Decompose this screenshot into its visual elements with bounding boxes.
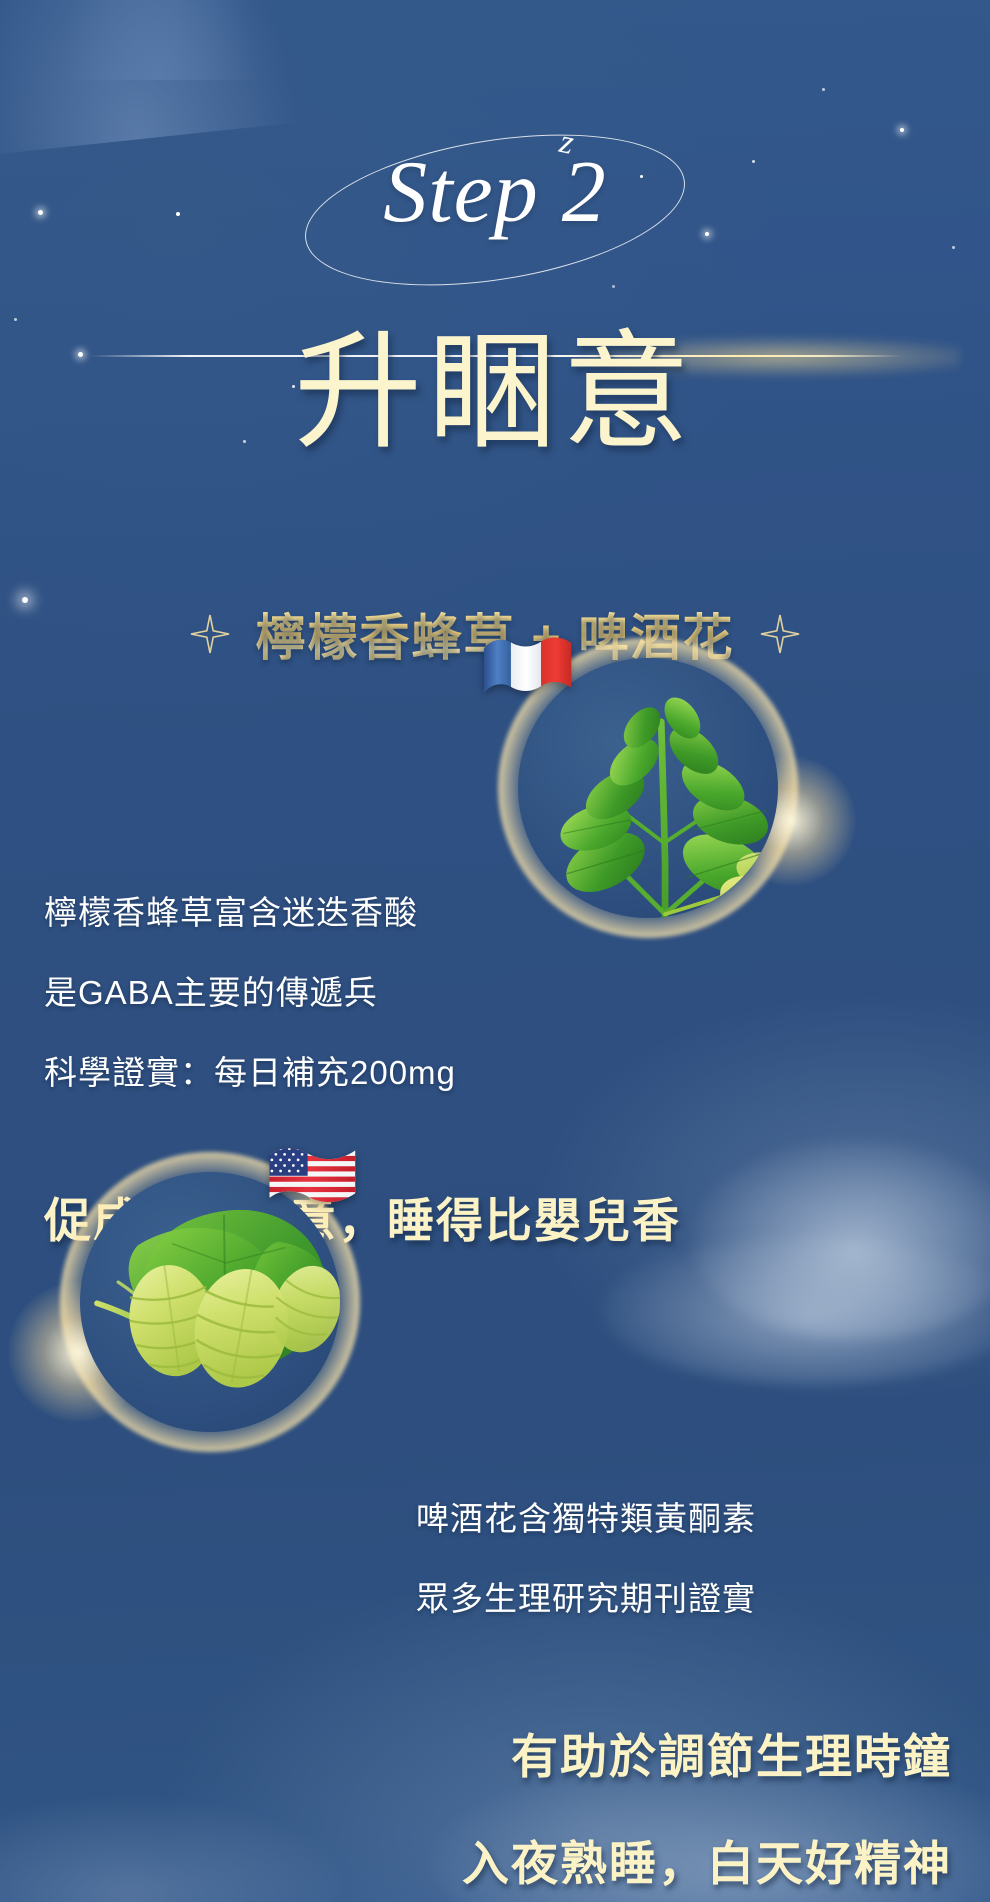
star-decoration xyxy=(822,88,825,91)
hops-body-copy: 啤酒花含獨特類黃酮素 眾多生理研究期刊證實 xyxy=(416,1502,756,1615)
headline-line: 入夜熟睡，白天好精神 xyxy=(0,1825,952,1894)
page-title: 升睏意 xyxy=(0,318,990,469)
lemon-balm-plant-icon xyxy=(542,668,778,918)
lemon-balm-body-copy: 檸檬香蜂草富含迷迭香酸 是GABA主要的傳遞兵 科學證實：每日補充200mg xyxy=(44,896,456,1089)
hops-headline: 有助於調節生理時鐘 入夜熟睡，白天好精神 xyxy=(0,1718,952,1894)
cloud-decoration xyxy=(690,1140,990,1340)
hops-badge xyxy=(60,1152,360,1452)
top-decor-shape-right xyxy=(60,0,260,80)
french-flag-icon xyxy=(482,636,578,698)
body-line: 啤酒花含獨特類黃酮素 xyxy=(416,1502,756,1535)
step-label: Step 2 xyxy=(0,142,990,243)
usa-flag-icon xyxy=(266,1144,362,1206)
diamond-sparkle-icon xyxy=(190,614,230,654)
step-header: Step 2 z xyxy=(0,118,990,308)
headline-line: 有助於調節生理時鐘 xyxy=(0,1718,952,1787)
cloud-decoration xyxy=(600,1235,990,1385)
badge-disc xyxy=(80,1172,340,1432)
body-line: 眾多生理研究期刊證實 xyxy=(416,1582,756,1615)
body-line: 檸檬香蜂草富含迷迭香酸 xyxy=(44,896,456,929)
lemon-balm-badge xyxy=(498,638,798,938)
hops-cone-plant-icon xyxy=(80,1186,340,1432)
promo-page: Step 2 z 升睏意 檸檬香蜂草 + 啤酒花 xyxy=(0,0,990,1902)
body-line: 是GABA主要的傳遞兵 xyxy=(44,976,456,1009)
body-line: 科學證實：每日補充200mg xyxy=(44,1056,456,1089)
